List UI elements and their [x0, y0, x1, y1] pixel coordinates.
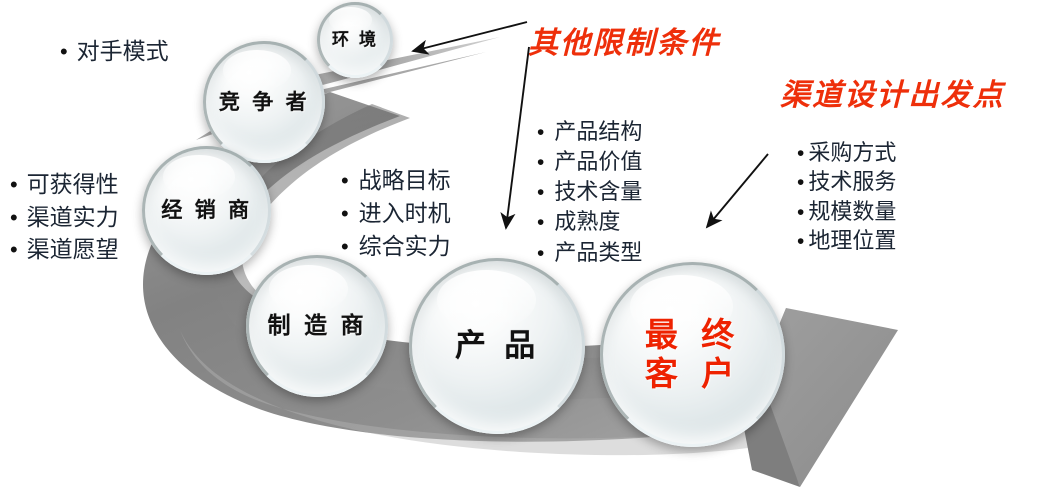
arrow-to-product-list	[506, 47, 529, 228]
diagram-canvas: 环 境 竞 争 者 经 销 商 制 造 商 产 品 最 终 客 户 • 对手模式…	[0, 0, 1059, 487]
arrow-to-customer	[707, 154, 768, 227]
arrow-to-environment	[413, 22, 527, 51]
callout-arrows	[0, 0, 1059, 487]
